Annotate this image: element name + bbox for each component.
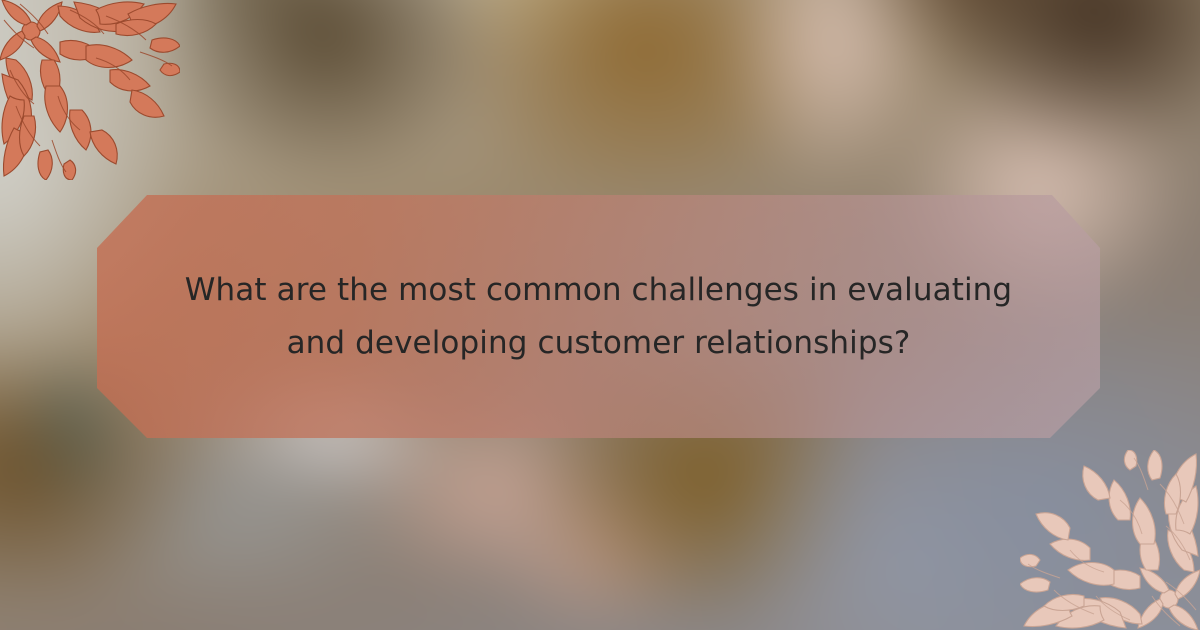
question-heading: What are the most common challenges in e… [144,264,1054,368]
screenshot-canvas: What are the most common challenges in e… [0,0,1200,630]
question-banner: What are the most common challenges in e… [97,195,1100,438]
